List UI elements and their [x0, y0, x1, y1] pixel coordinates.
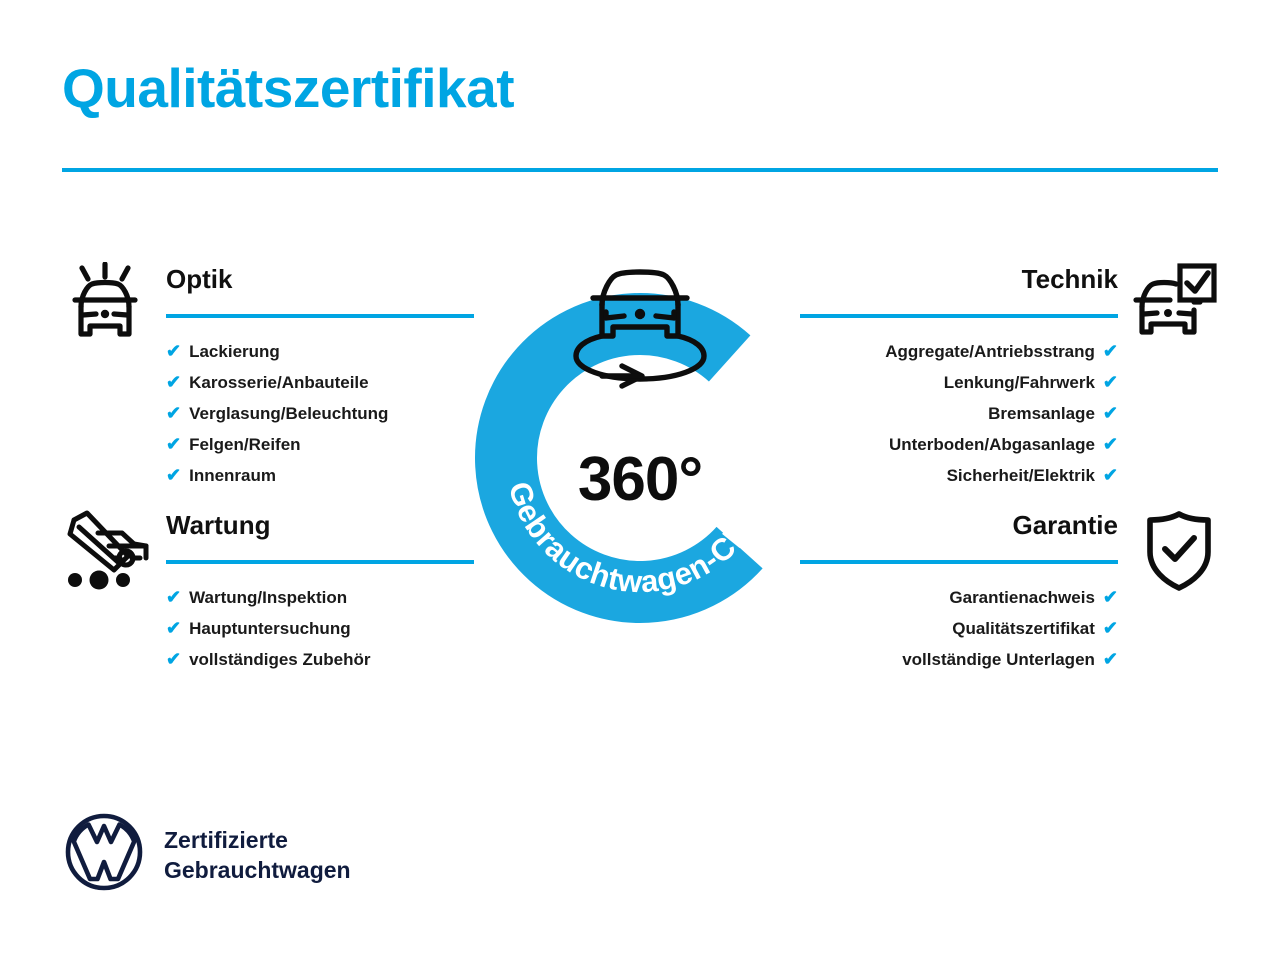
check-icon: ✔	[1103, 429, 1118, 459]
list-item-label: Hauptuntersuchung	[189, 614, 351, 644]
list-item: Unterboden/Abgasanlage ✔	[889, 429, 1118, 460]
list-item-label: vollständige Unterlagen	[902, 645, 1095, 675]
list-item-label: Innenraum	[189, 461, 276, 491]
section-divider	[800, 560, 1118, 564]
list-item-label: vollständiges Zubehör	[189, 645, 370, 675]
check-icon: ✔	[166, 367, 181, 397]
list-item: Bremsanlage ✔	[988, 398, 1118, 429]
section-header: Optik	[62, 262, 474, 318]
badge-center-value: 360°	[452, 444, 828, 515]
check-icon: ✔	[166, 644, 181, 674]
check-icon: ✔	[166, 398, 181, 428]
section-title: Garantie	[800, 508, 1118, 542]
list-item-label: Qualitätszertifikat	[952, 614, 1095, 644]
list-item: ✔ Verglasung/Beleuchtung	[166, 398, 474, 429]
list-item-label: Felgen/Reifen	[189, 430, 300, 460]
list-item: ✔ Karosserie/Anbauteile	[166, 367, 474, 398]
list-item: Garantienachweis ✔	[949, 582, 1118, 613]
check-icon: ✔	[1103, 367, 1118, 397]
list-item: ✔ Hauptuntersuchung	[166, 613, 474, 644]
check-icon: ✔	[1103, 613, 1118, 643]
section-header: Wartung	[62, 508, 474, 564]
vw-logo	[64, 812, 144, 897]
section-divider	[800, 314, 1118, 318]
list-item: ✔ Innenraum	[166, 460, 474, 491]
check-icon: ✔	[166, 582, 181, 612]
list-item-label: Lackierung	[189, 337, 280, 367]
list-item-label: Lenkung/Fahrwerk	[944, 368, 1095, 398]
list-item: ✔ Wartung/Inspektion	[166, 582, 474, 613]
page-title: Qualitätszertifikat	[62, 58, 514, 119]
list-item-label: Bremsanlage	[988, 399, 1095, 429]
section-title: Wartung	[166, 508, 474, 542]
certificate-page: Qualitätszertifikat Optik	[0, 0, 1280, 960]
section-title: Optik	[166, 262, 474, 296]
list-item-label: Unterboden/Abgasanlage	[889, 430, 1095, 460]
title-divider	[62, 168, 1218, 172]
section-garantie: Garantie Garantienachweis ✔ Qualitätszer…	[800, 508, 1218, 675]
list-item: Lenkung/Fahrwerk ✔	[944, 367, 1118, 398]
list-item: ✔ vollständiges Zubehör	[166, 644, 474, 675]
vw-certified-lockup: Zertifizierte Gebrauchtwagen	[64, 812, 351, 897]
checklist-technik: Aggregate/Antriebsstrang ✔ Lenkung/Fahrw…	[800, 336, 1218, 491]
list-item: Aggregate/Antriebsstrang ✔	[885, 336, 1118, 367]
list-item: Qualitätszertifikat ✔	[952, 613, 1118, 644]
list-item: vollständige Unterlagen ✔	[902, 644, 1118, 675]
vw-lockup-text: Zertifizierte Gebrauchtwagen	[164, 825, 351, 885]
section-title: Technik	[800, 262, 1118, 296]
section-optik: Optik ✔ Lackierung ✔ Karosserie/Anbautei…	[62, 262, 474, 491]
list-item: Sicherheit/Elektrik ✔	[947, 460, 1118, 491]
vw-lockup-line1: Zertifizierte	[164, 825, 351, 855]
list-item-label: Aggregate/Antriebsstrang	[885, 337, 1095, 367]
list-item-label: Sicherheit/Elektrik	[947, 461, 1095, 491]
section-header: Technik	[800, 262, 1218, 318]
check-icon: ✔	[1103, 460, 1118, 490]
check-icon: ✔	[166, 460, 181, 490]
list-item-label: Garantienachweis	[949, 583, 1095, 613]
checklist-optik: ✔ Lackierung ✔ Karosserie/Anbauteile ✔ V…	[62, 336, 474, 491]
section-technik: Technik Aggregate/Antriebsstrang ✔ Lenku…	[800, 262, 1218, 491]
check-icon: ✔	[1103, 582, 1118, 612]
section-wartung: Wartung ✔ Wartung/Inspektion ✔ Hauptunte…	[62, 508, 474, 675]
vw-lockup-line2: Gebrauchtwagen	[164, 855, 351, 885]
check-icon: ✔	[166, 613, 181, 643]
list-item-label: Karosserie/Anbauteile	[189, 368, 369, 398]
check-icon: ✔	[1103, 398, 1118, 428]
check-icon: ✔	[166, 429, 181, 459]
check-icon: ✔	[166, 336, 181, 366]
section-header: Garantie	[800, 508, 1218, 564]
360-check-badge: Gebrauchtwagen-Check 360°	[452, 248, 828, 648]
check-icon: ✔	[1103, 644, 1118, 674]
list-item-label: Wartung/Inspektion	[189, 583, 347, 613]
check-icon: ✔	[1103, 336, 1118, 366]
list-item: ✔ Felgen/Reifen	[166, 429, 474, 460]
list-item: ✔ Lackierung	[166, 336, 474, 367]
list-item-label: Verglasung/Beleuchtung	[189, 399, 388, 429]
section-divider	[166, 560, 474, 564]
section-divider	[166, 314, 474, 318]
checklist-wartung: ✔ Wartung/Inspektion ✔ Hauptuntersuchung…	[62, 582, 474, 675]
